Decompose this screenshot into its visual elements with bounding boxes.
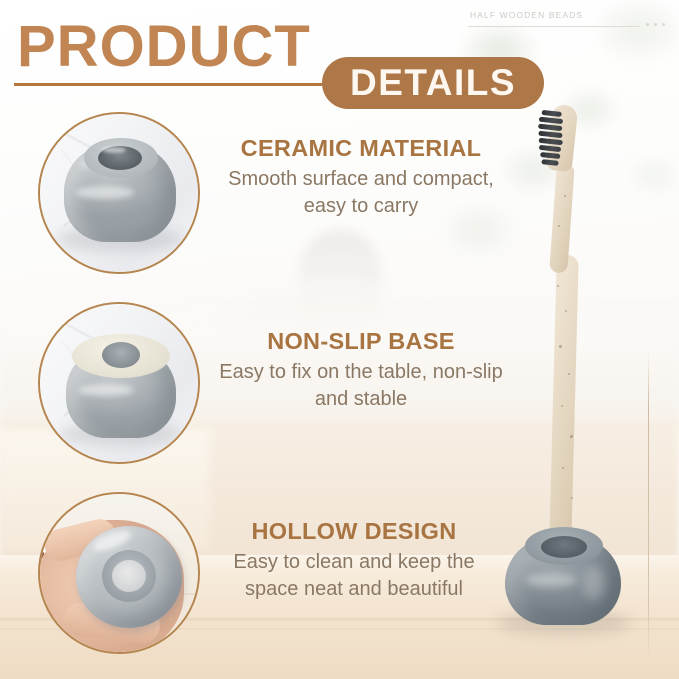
details-badge: DETAILS [322,57,544,109]
holder-hole-shine [102,147,126,153]
feature-photo-ceramic-material [38,112,200,274]
toothbrush [543,105,583,535]
holder-highlight [78,384,134,396]
feature-photo-non-slip-base [38,302,200,464]
product-details-infographic: PRODUCT DETAILS HALF WOODEN BEADS [0,0,679,679]
feature-heading: NON-SLIP BASE [211,328,511,355]
feature-text-ceramic-material: CERAMIC MATERIAL Smooth surface and comp… [211,135,511,219]
watermark-dots [646,23,665,26]
feature-body: Smooth surface and compact, easy to carr… [211,166,511,219]
watermark-dot [662,23,665,26]
feature-heading: CERAMIC MATERIAL [211,135,511,162]
watermark-dot [654,23,657,26]
feature-text-hollow-design: HOLLOW DESIGN Easy to clean and keep the… [204,518,504,602]
holder-highlight [525,573,577,587]
watermark-label: HALF WOODEN BEADS [470,10,670,20]
title-underline-rule [14,83,344,86]
feature-body: Easy to fix on the table, non-slip and s… [211,359,511,412]
watermark-dot [646,23,649,26]
feature-body: Easy to clean and keep the space neat an… [204,549,504,602]
holder-highlight-right [583,567,605,601]
details-badge-label: DETAILS [350,64,516,103]
holder-through-hole [112,560,146,592]
holder-highlight [76,186,134,199]
holder-center-hole [541,536,587,558]
page-title: PRODUCT [17,18,311,76]
background-vertical-line [648,352,649,652]
feature-photo-hollow-design [38,492,200,654]
watermark-line [468,26,640,27]
feature-heading: HOLLOW DESIGN [204,518,504,545]
ceramic-holder-hero [505,527,621,625]
feature-text-non-slip-base: NON-SLIP BASE Easy to fix on the table, … [211,328,511,412]
holder-center-hole [102,342,140,368]
watermark: HALF WOODEN BEADS [470,10,670,20]
toothbrush-handle [549,255,579,545]
